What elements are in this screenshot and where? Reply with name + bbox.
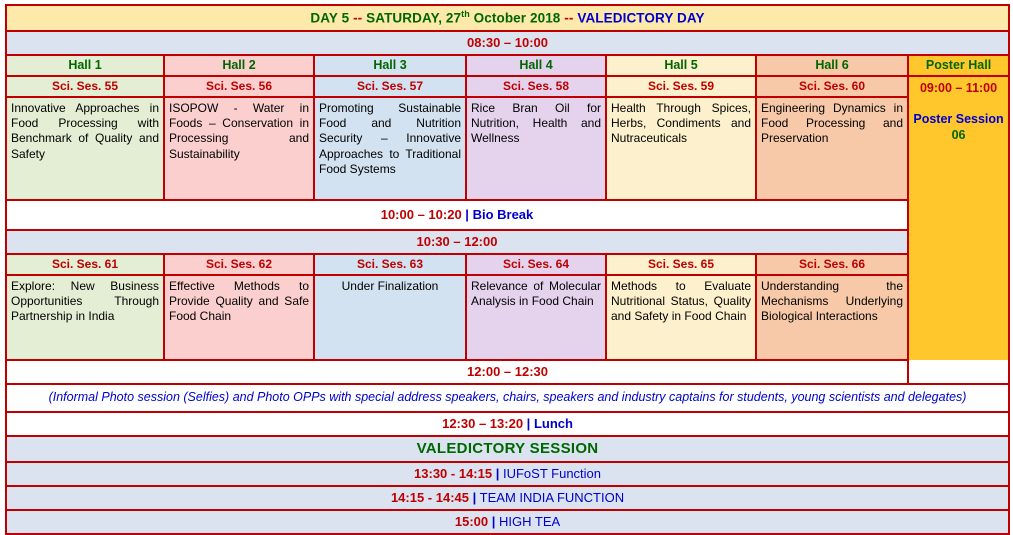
valedictory-separator-1: |	[496, 466, 500, 481]
poster-session-label-text: Poster Session	[913, 112, 1003, 126]
session-code-60: Sci. Ses. 60	[756, 76, 908, 97]
valedictory-row-2: 14:15 - 14:45 | TEAM INDIA FUNCTION	[6, 486, 1009, 510]
hall-header-4: Hall 4	[466, 55, 606, 76]
valedictory-time-3: 15:00	[455, 514, 488, 529]
valedictory-row-1: 13:30 - 14:15 | IUFoST Function	[6, 462, 1009, 486]
session-code-64: Sci. Ses. 64	[466, 254, 606, 275]
valedictory-row-3: 15:00 | HIGH TEA	[6, 510, 1009, 534]
session-title-56: ISOPOW - Water in Foods – Conservation i…	[164, 97, 314, 200]
hall-header-3: Hall 3	[314, 55, 466, 76]
bio-break-row: 10:00 – 10:20 | Bio Break	[6, 200, 1009, 230]
photo-session-time-cell: 12:00 – 12:30	[6, 360, 1009, 384]
session-title-61: Explore: New Business Opportunities Thro…	[6, 275, 164, 360]
bio-break-time: 10:00 – 10:20	[381, 207, 462, 222]
poster-hall-header: Poster Hall	[908, 55, 1009, 76]
valedictory-label-2: TEAM INDIA FUNCTION	[480, 490, 624, 505]
session-title-65: Methods to Evaluate Nutritional Status, …	[606, 275, 756, 360]
poster-session-time: 09:00 – 11:00	[911, 81, 1006, 95]
valedictory-cell-1: 13:30 - 14:15 | IUFoST Function	[6, 462, 1009, 486]
hall-header-2: Hall 2	[164, 55, 314, 76]
conference-schedule-table: DAY 5 -- SATURDAY, 27th October 2018 -- …	[5, 4, 1010, 535]
session-code-55: Sci. Ses. 55	[6, 76, 164, 97]
valedictory-time-1: 13:30 - 14:15	[414, 466, 492, 481]
hall-header-1: Hall 1	[6, 55, 164, 76]
hall-header-6: Hall 6	[756, 55, 908, 76]
lunch-cell: 12:30 – 13:20 | Lunch	[6, 412, 1009, 436]
block2-time-row: 10:30 – 12:00	[6, 230, 1009, 254]
poster-session-cell: 09:00 – 11:00 Poster Session 06	[908, 76, 1009, 384]
bio-break-separator: |	[465, 207, 469, 222]
photo-session-note-cell: (Informal Photo session (Selfies) and Ph…	[6, 384, 1009, 413]
hall-header-5: Hall 5	[606, 55, 756, 76]
lunch-row: 12:30 – 13:20 | Lunch	[6, 412, 1009, 436]
block1-session-code-row: Sci. Ses. 55 Sci. Ses. 56 Sci. Ses. 57 S…	[6, 76, 1009, 97]
bio-break-label: Bio Break	[473, 207, 534, 222]
session-title-63: Under Finalization	[314, 275, 466, 360]
valedictory-time-2: 14:15 - 14:45	[391, 490, 469, 505]
session-code-59: Sci. Ses. 59	[606, 76, 756, 97]
block1-time-cell: 08:30 – 10:00	[6, 31, 1009, 55]
photo-session-note-row: (Informal Photo session (Selfies) and Ph…	[6, 384, 1009, 413]
session-code-61: Sci. Ses. 61	[6, 254, 164, 275]
day-date-suffix: October 2018	[474, 11, 561, 26]
lunch-label: Lunch	[534, 416, 573, 431]
session-code-56: Sci. Ses. 56	[164, 76, 314, 97]
session-title-55: Innovative Approaches in Food Processing…	[6, 97, 164, 200]
valedictory-title-row: VALEDICTORY SESSION	[6, 436, 1009, 462]
day-title-cell: DAY 5 -- SATURDAY, 27th October 2018 -- …	[6, 5, 1009, 31]
block1-time-row: 08:30 – 10:00	[6, 31, 1009, 55]
session-title-57: Promoting Sustainable Food and Nutrition…	[314, 97, 466, 200]
session-code-65: Sci. Ses. 65	[606, 254, 756, 275]
valedictory-label-3: HIGH TEA	[499, 514, 560, 529]
valedictory-cell-3: 15:00 | HIGH TEA	[6, 510, 1009, 534]
block2-session-code-row: Sci. Ses. 61 Sci. Ses. 62 Sci. Ses. 63 S…	[6, 254, 1009, 275]
lunch-separator: |	[527, 416, 531, 431]
day-title-dash-1: --	[353, 11, 362, 26]
poster-session-label: Poster Session 06	[911, 111, 1006, 144]
day-title-dash-2: --	[564, 11, 573, 26]
bio-break-cell: 10:00 – 10:20 | Bio Break	[6, 200, 908, 230]
session-title-60: Engineering Dynamics in Food Processing …	[756, 97, 908, 200]
block2-time-cell: 10:30 – 12:00	[6, 230, 908, 254]
poster-session-number: 06	[952, 128, 966, 142]
block1-session-title-row: Innovative Approaches in Food Processing…	[6, 97, 1009, 200]
session-title-58: Rice Bran Oil for Nutrition, Health and …	[466, 97, 606, 200]
photo-session-time-row: 12:00 – 12:30	[6, 360, 1009, 384]
valedictory-label-1: IUFoST Function	[503, 466, 601, 481]
session-code-62: Sci. Ses. 62	[164, 254, 314, 275]
session-code-66: Sci. Ses. 66	[756, 254, 908, 275]
valedictory-cell-2: 14:15 - 14:45 | TEAM INDIA FUNCTION	[6, 486, 1009, 510]
valedictory-title-cell: VALEDICTORY SESSION	[6, 436, 1009, 462]
lunch-time: 12:30 – 13:20	[442, 416, 523, 431]
day-title-row: DAY 5 -- SATURDAY, 27th October 2018 -- …	[6, 5, 1009, 31]
day-title-valedictory: VALEDICTORY DAY	[577, 11, 704, 26]
session-title-64: Relevance of Molecular Analysis in Food …	[466, 275, 606, 360]
block2-session-title-row: Explore: New Business Opportunities Thro…	[6, 275, 1009, 360]
session-code-63: Sci. Ses. 63	[314, 254, 466, 275]
day-date-ordinal: th	[461, 9, 470, 19]
day-date-prefix: SATURDAY, 27	[366, 11, 461, 26]
session-code-57: Sci. Ses. 57	[314, 76, 466, 97]
session-code-58: Sci. Ses. 58	[466, 76, 606, 97]
day-number: DAY 5	[310, 11, 349, 26]
valedictory-separator-2: |	[473, 490, 477, 505]
session-title-66: Understanding the Mechanisms Underlying …	[756, 275, 908, 360]
session-title-62: Effective Methods to Provide Quality and…	[164, 275, 314, 360]
hall-header-row: Hall 1 Hall 2 Hall 3 Hall 4 Hall 5 Hall …	[6, 55, 1009, 76]
session-title-59: Health Through Spices, Herbs, Condiments…	[606, 97, 756, 200]
valedictory-separator-3: |	[492, 514, 496, 529]
